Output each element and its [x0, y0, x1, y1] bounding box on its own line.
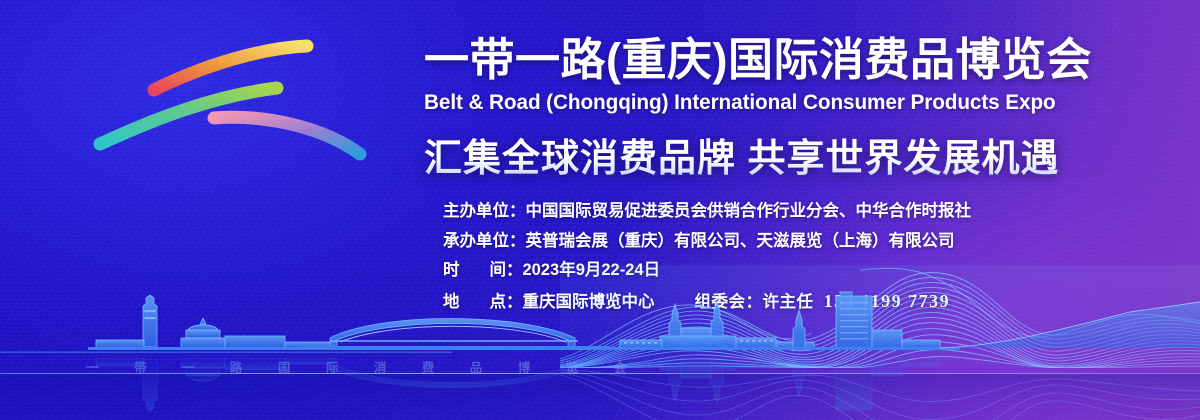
organizer-label: 主办单位：	[443, 203, 526, 220]
arc-top-warm	[154, 46, 307, 90]
expo-banner: 一带一路(重庆)国际消费品博览会 Belt & Road (Chongqing)…	[0, 0, 1200, 420]
info-row-organizer: 主办单位： 中国国际贸易促进委员会供销合作行业分会、中华合作时报社	[443, 203, 971, 220]
co-organizer-value: 英普瑞会展（重庆）有限公司、天滋展览（上海）有限公司	[526, 233, 955, 250]
arc-bottom-cool	[214, 117, 360, 154]
skyline-buildings	[0, 292, 1200, 353]
date-label-char-b: 间：	[490, 261, 523, 279]
co-organizer-label: 承办单位：	[443, 233, 526, 250]
page-title-cn: 一带一路(重庆)国际消费品博览会	[424, 34, 1124, 85]
title-block: 一带一路(重庆)国际消费品博览会 Belt & Road (Chongqing)…	[424, 34, 1124, 182]
belt-and-road-expo-logo	[92, 22, 392, 182]
info-row-co-organizer: 承办单位： 英普瑞会展（重庆）有限公司、天滋展览（上海）有限公司	[443, 233, 971, 250]
date-label-char-a: 时	[443, 261, 460, 279]
organizer-value: 中国国际贸易促进委员会供销合作行业分会、中华合作时报社	[526, 203, 972, 220]
expo-slogan: 汇集全球消费品牌 共享世界发展机遇	[424, 127, 1124, 182]
skyline-reflection	[96, 358, 1200, 411]
page-title-en: Belt & Road (Chongqing) International Co…	[424, 90, 1100, 115]
chongqing-city-skyline-with-bridge-and-reflection	[0, 290, 1200, 420]
date-label: 时间：	[443, 262, 523, 279]
